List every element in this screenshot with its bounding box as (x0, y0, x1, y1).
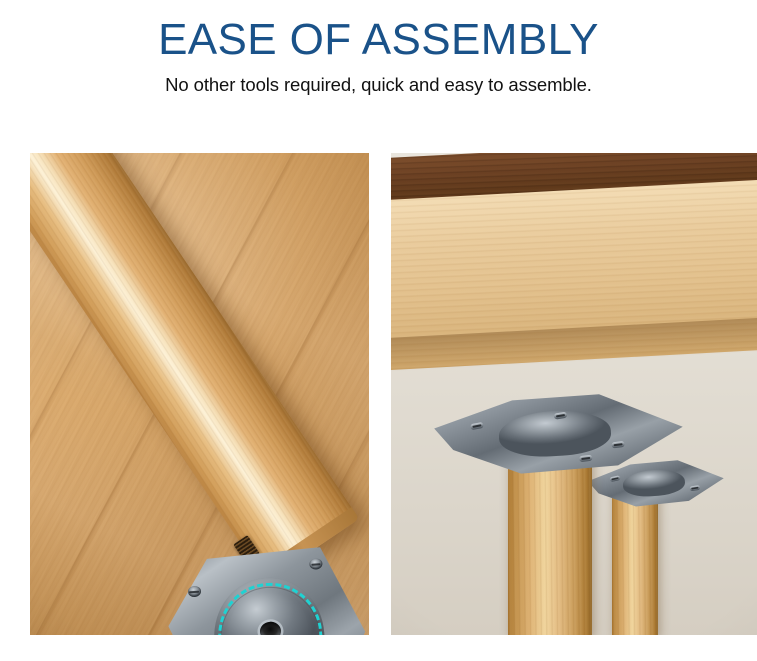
photo-assembled-table-underside (391, 153, 757, 635)
wooden-table-leg-rear (612, 489, 658, 635)
header: EASE OF ASSEMBLY No other tools required… (0, 0, 757, 96)
photo-leg-and-mounting-plate (30, 153, 369, 635)
hex-mounting-plate (164, 544, 369, 635)
mounting-bracket-front (425, 388, 685, 481)
page-title: EASE OF ASSEMBLY (0, 0, 757, 63)
page-subtitle: No other tools required, quick and easy … (0, 63, 757, 96)
screw-icon (579, 454, 593, 462)
leg-wood-grain (612, 489, 658, 635)
